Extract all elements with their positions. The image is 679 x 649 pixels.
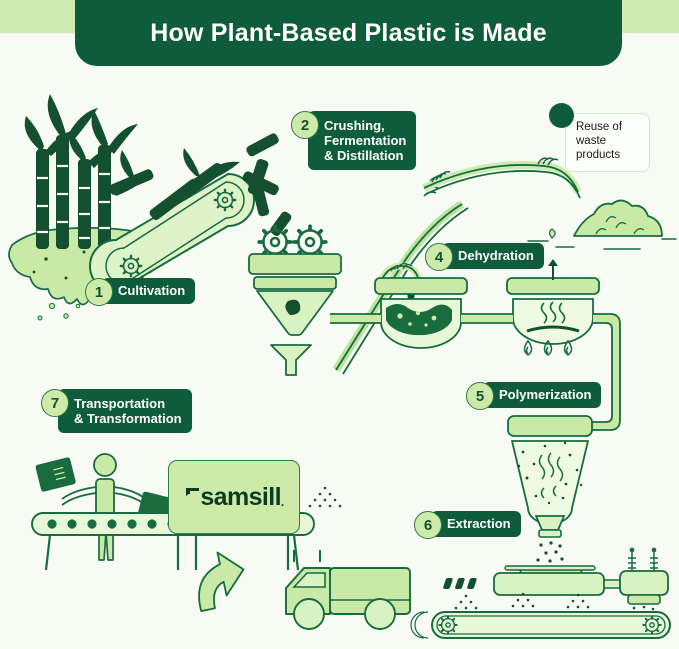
output-conveyor-icon <box>411 612 670 638</box>
infographic-canvas: How Plant-Based Plastic is Made 1 Cultiv… <box>0 0 679 649</box>
reuse-callout-text: Reuse of waste products <box>576 120 641 162</box>
samsill-wordmark: samsill . <box>184 483 283 512</box>
samsill-text: samsill <box>200 483 281 512</box>
step-6-extraction[interactable]: 6 Extraction <box>414 511 521 539</box>
pellet-pile-left-icon <box>309 487 342 508</box>
samsill-logo-plate: samsill . <box>168 460 300 534</box>
step-4-label: Dehydration <box>442 243 544 269</box>
funnel-hopper-icon <box>249 254 341 375</box>
title-banner: How Plant-Based Plastic is Made <box>75 0 622 66</box>
delivery-truck-icon <box>286 550 410 629</box>
heated-vessel-icon <box>507 259 599 355</box>
illustration-layer <box>0 0 679 649</box>
curved-up-arrow-icon <box>190 548 250 611</box>
page-title: How Plant-Based Plastic is Made <box>150 19 547 48</box>
step-2-label: Crushing, Fermentation & Distillation <box>308 111 416 170</box>
step-1-label: Cultivation <box>102 278 195 304</box>
step-5-label: Polymerization <box>483 382 601 408</box>
step-1-badge: 1 <box>85 278 113 306</box>
lightning-bolt-icon <box>549 103 574 128</box>
step-6-badge: 6 <box>414 511 442 539</box>
gears-icon <box>259 226 326 258</box>
step-2-crushing[interactable]: 2 Crushing, Fermentation & Distillation <box>291 111 416 170</box>
liquid-vessel-icon <box>375 278 467 348</box>
step-7-label: Transportation & Transformation <box>58 389 192 433</box>
step-5-polymerization[interactable]: 5 Polymerization <box>466 382 601 410</box>
step-1-cultivation[interactable]: 1 Cultivation <box>85 278 195 306</box>
samsill-mark-icon <box>184 485 201 509</box>
step-7-transportation[interactable]: 7 Transportation & Transformation <box>41 389 192 433</box>
step-4-badge: 4 <box>425 243 453 271</box>
step-5-badge: 5 <box>466 382 494 410</box>
registered-mark: . <box>281 495 284 509</box>
step-6-label: Extraction <box>431 511 521 537</box>
factory-worker-icon <box>62 454 148 560</box>
step-2-badge: 2 <box>291 111 319 139</box>
step-4-dehydration[interactable]: 4 Dehydration <box>425 243 544 271</box>
reuse-callout: Reuse of waste products <box>565 113 650 172</box>
polymerization-tank-icon <box>508 416 592 563</box>
bagasse-pile-icon <box>528 200 676 249</box>
conveyor-belt-icon <box>90 148 254 292</box>
step-7-badge: 7 <box>41 389 69 417</box>
